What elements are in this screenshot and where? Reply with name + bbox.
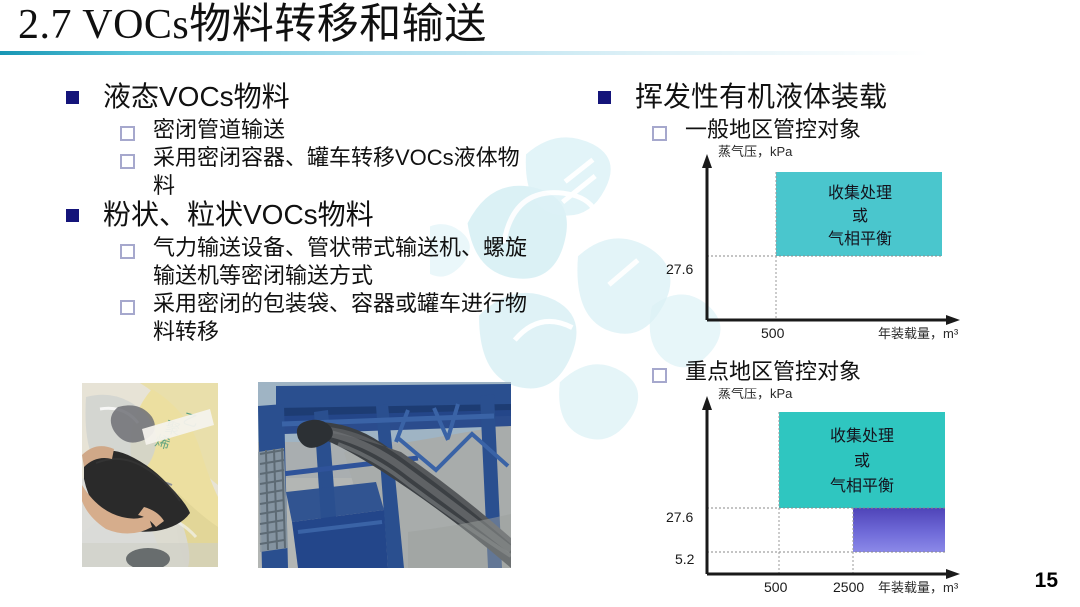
chart2-ytick-276: 27.6	[666, 509, 693, 525]
chart2-xtick-500: 500	[764, 579, 788, 595]
page-number: 15	[1035, 569, 1058, 593]
bullet-liquid-vocs: 液态VOCs物料	[66, 78, 290, 116]
tubular-belt-conveyor-photo	[258, 382, 511, 568]
subbullet-pneumatic-conveying: 气力输送设备、管状带式输送机、螺旋输送机等密闭输送方式	[120, 234, 540, 290]
chart2-region-label-line1: 收集处理	[830, 427, 894, 445]
square-bullet-icon	[66, 209, 79, 222]
chart2-region-label-line3: 气相平衡	[830, 477, 894, 495]
hollow-square-bullet-icon	[120, 126, 135, 141]
chart1-region-label-line3: 气相平衡	[828, 230, 892, 248]
chart2-x-axis-label: 年装载量，m³	[878, 580, 959, 595]
subbullet-key-area: 重点地区管控对象	[652, 358, 861, 386]
chart2-y-axis-label: 蒸气压，kPa	[718, 388, 793, 401]
subbullet-general-area: 一般地区管控对象	[652, 116, 861, 144]
hollow-square-bullet-icon	[120, 300, 135, 315]
chart1-x-axis-arrow	[946, 315, 960, 325]
chart1-ytick-276: 27.6	[666, 261, 693, 277]
granular-material-photo: 聚 乙 烯	[82, 383, 218, 567]
title-divider	[0, 51, 1080, 55]
chart1-y-axis-label: 蒸气压，kPa	[718, 144, 793, 159]
subbullet-label: 一般地区管控对象	[685, 116, 861, 144]
subbullet-label: 采用密闭的包装袋、容器或罐车进行物料转移	[153, 290, 540, 346]
square-bullet-icon	[66, 91, 79, 104]
subbullet-label: 重点地区管控对象	[685, 358, 861, 386]
subbullet-label: 气力输送设备、管状带式输送机、螺旋输送机等密闭输送方式	[153, 234, 540, 290]
subbullet-closed-container: 采用密闭容器、罐车转移VOCs液体物料	[120, 144, 540, 200]
chart1-y-axis-arrow	[702, 154, 712, 168]
subbullet-label: 密闭管道输送	[153, 116, 285, 144]
chart2-ytick-52: 5.2	[675, 551, 695, 567]
hollow-square-bullet-icon	[120, 244, 135, 259]
chart1-region-label-line2: 或	[852, 207, 868, 225]
bullet-heading-label: 液态VOCs物料	[103, 78, 290, 116]
chart1-xtick-500: 500	[761, 325, 785, 341]
subbullet-sealed-packaging: 采用密闭的包装袋、容器或罐车进行物料转移	[120, 290, 540, 346]
square-bullet-icon	[598, 91, 611, 104]
slide-canvas: 2.7 VOCs物料转移和输送 液态VOCs物料 密闭管道输送 采用密闭容器、罐…	[0, 0, 1080, 607]
bullet-heading-label: 挥发性有机液体装载	[635, 78, 887, 116]
bullet-heading-label: 粉状、粒状VOCs物料	[103, 196, 374, 234]
chart1-x-axis-label: 年装载量，m³	[878, 326, 959, 341]
hollow-square-bullet-icon	[652, 368, 667, 383]
hollow-square-bullet-icon	[120, 154, 135, 169]
subbullet-label: 采用密闭容器、罐车转移VOCs液体物料	[153, 144, 540, 200]
subbullet-closed-pipe: 密闭管道输送	[120, 116, 540, 144]
chart-general-area-control: 蒸气压，kPa 年装载量，m³ 27.6 500 收集处理 或 气相平衡	[650, 142, 990, 347]
bullet-powder-granular-vocs: 粉状、粒状VOCs物料	[66, 196, 374, 234]
chart-key-area-control: 蒸气压，kPa 年装载量，m³ 27.6 5.2 500 2500 收集处理 或…	[650, 388, 990, 598]
bullet-vol-loading: 挥发性有机液体装载	[598, 78, 887, 116]
chart2-y-axis-arrow	[702, 396, 712, 410]
page-title: 2.7 VOCs物料转移和输送	[18, 2, 487, 48]
chart2-region-restricted	[853, 508, 945, 552]
hollow-square-bullet-icon	[652, 126, 667, 141]
chart2-x-axis-arrow	[946, 569, 960, 579]
chart1-region-label-line1: 收集处理	[828, 184, 892, 202]
chart2-xtick-2500: 2500	[833, 579, 864, 595]
chart2-region-label-line2: 或	[854, 452, 870, 470]
